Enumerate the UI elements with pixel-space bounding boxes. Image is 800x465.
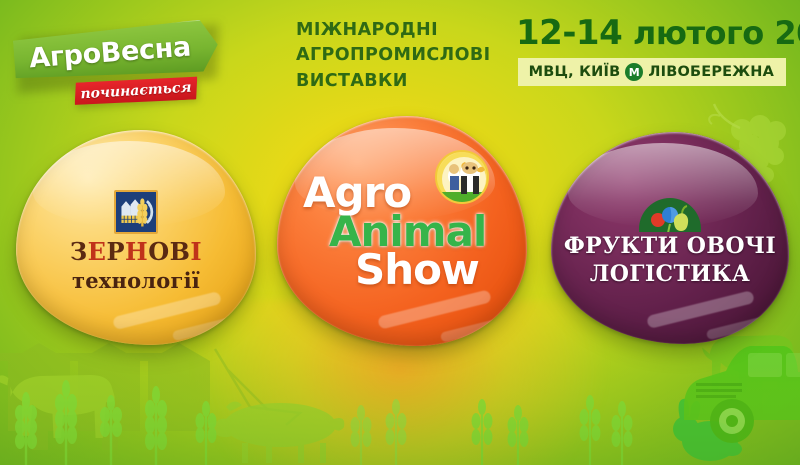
- word-show: Show: [355, 251, 486, 290]
- badge-title-grain: ЗЕРНОВІ: [70, 240, 202, 264]
- grain-silo-wheat-gear-icon: [114, 190, 158, 234]
- gloss-streak: [377, 289, 492, 329]
- headline-line-1: МІЖНАРОДНІ: [296, 18, 516, 43]
- pickup-truck-silhouette-icon: [684, 338, 800, 443]
- exhibition-badges: ЗЕРНОВІ технології: [0, 112, 800, 342]
- badge-grain-technologies[interactable]: ЗЕРНОВІ технології: [16, 130, 256, 345]
- metro-station: ЛІВОБЕРЕЖНА: [648, 64, 774, 80]
- silo-crane-icon: [215, 349, 300, 425]
- badge-subtitle-grain: технології: [72, 268, 200, 293]
- headline-line-2: АГРОПРОМИСЛОВІ: [296, 43, 516, 68]
- date-venue-block: 12-14 лютого 2025 МВЦ, КИЇВ M ЛІВОБЕРЕЖН…: [516, 16, 786, 86]
- promo-banner: АгроВесна починається МІЖНАРОДНІ АГРОПРО…: [0, 0, 800, 465]
- banner-header: АгроВесна починається МІЖНАРОДНІ АГРОПРО…: [0, 0, 800, 112]
- cow-silhouette-icon: [0, 375, 115, 438]
- grain-silos-icon: [0, 343, 210, 450]
- headline: МІЖНАРОДНІ АГРОПРОМИСЛОВІ ВИСТАВКИ: [296, 18, 516, 94]
- venue-name: МВЦ, КИЇВ: [529, 64, 621, 80]
- rabbit-silhouette-icon: [673, 399, 742, 461]
- date-month-year: лютого 2025: [633, 14, 800, 52]
- cow-silhouette-icon: [702, 335, 795, 393]
- venue-strip: МВЦ, КИЇВ M ЛІВОБЕРЕЖНА: [518, 58, 786, 86]
- wheat-stalks-icon: [15, 380, 633, 465]
- event-date: 12-14 лютого 2025: [516, 16, 786, 50]
- pig-silhouette-icon: [208, 401, 344, 463]
- gloss-streak-small: [439, 317, 504, 342]
- fruits-vegetables-icon: [639, 198, 701, 232]
- farmer-cow-circle-icon: [435, 150, 489, 204]
- badge-fruits-vegetables-logistics[interactable]: ФРУКТИ ОВОЧІ ЛОГІСТИКА: [551, 132, 789, 344]
- metro-m-icon: M: [625, 63, 643, 81]
- agrovesna-logo[interactable]: АгроВесна починається: [14, 24, 229, 98]
- badge-subtitle-fruits: ЛОГІСТИКА: [590, 261, 750, 287]
- badge-title-fruits: ФРУКТИ ОВОЧІ: [564, 233, 776, 259]
- headline-line-3: ВИСТАВКИ: [296, 69, 516, 94]
- badge-agro-animal-show[interactable]: Agro Animal Show: [277, 116, 527, 346]
- date-range: 12-14: [516, 13, 622, 53]
